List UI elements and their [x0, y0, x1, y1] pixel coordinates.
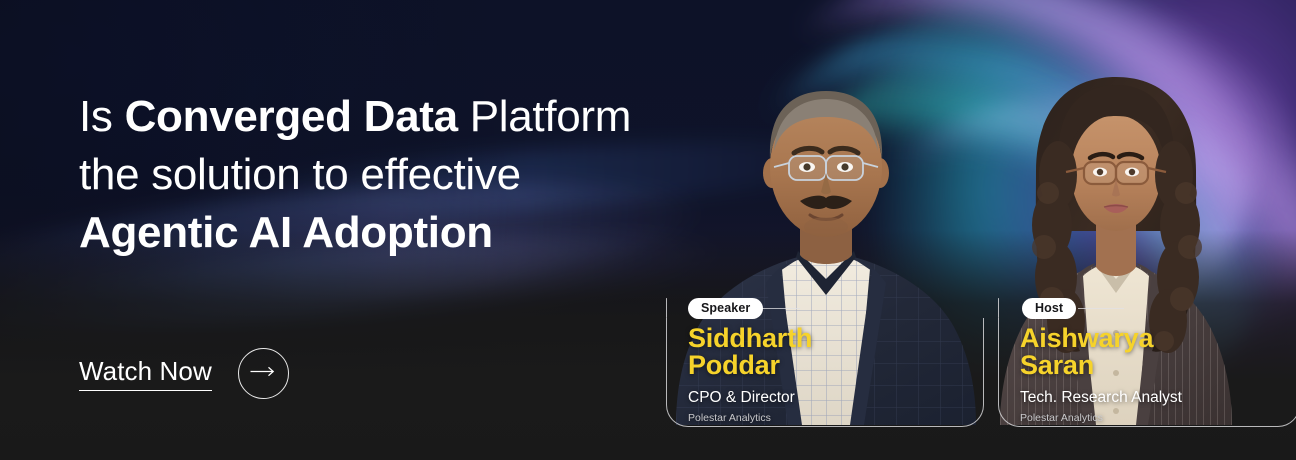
host-info: Aishwarya Saran Tech. Research Analyst P…: [1020, 325, 1296, 425]
host-badge-connector: [1078, 308, 1124, 309]
speaker-info: Siddharth Poddar CPO & Director Polestar…: [688, 325, 978, 425]
speaker-name: Siddharth Poddar: [688, 325, 978, 379]
headline-line-1-prefix: Is: [79, 92, 125, 141]
cta-row: Watch Now: [79, 348, 289, 399]
host-name: Aishwarya Saran: [1020, 325, 1296, 379]
host-role: Tech. Research Analyst: [1020, 388, 1296, 407]
headline-line-1-emphasis: Converged Data: [125, 92, 458, 141]
headline-line-2: the solution to effective: [79, 150, 521, 199]
headline-line-3: Agentic AI Adoption: [79, 208, 493, 257]
watch-now-link[interactable]: Watch Now: [79, 356, 212, 391]
webinar-promo-banner: Is Converged Data Platform the solution …: [0, 0, 1296, 460]
page-title: Is Converged Data Platform the solution …: [79, 88, 699, 262]
host-organization: Polestar Analytics: [1020, 411, 1296, 425]
arrow-right-icon: [250, 365, 276, 383]
host-badge: Host: [1022, 298, 1076, 319]
speaker-badge: Speaker: [688, 298, 763, 319]
headline-block: Is Converged Data Platform the solution …: [79, 88, 699, 262]
watch-now-arrow-button[interactable]: [238, 348, 289, 399]
speaker-organization: Polestar Analytics: [688, 411, 978, 425]
headline-line-1-suffix: Platform: [458, 92, 631, 141]
speaker-role: CPO & Director: [688, 388, 978, 407]
